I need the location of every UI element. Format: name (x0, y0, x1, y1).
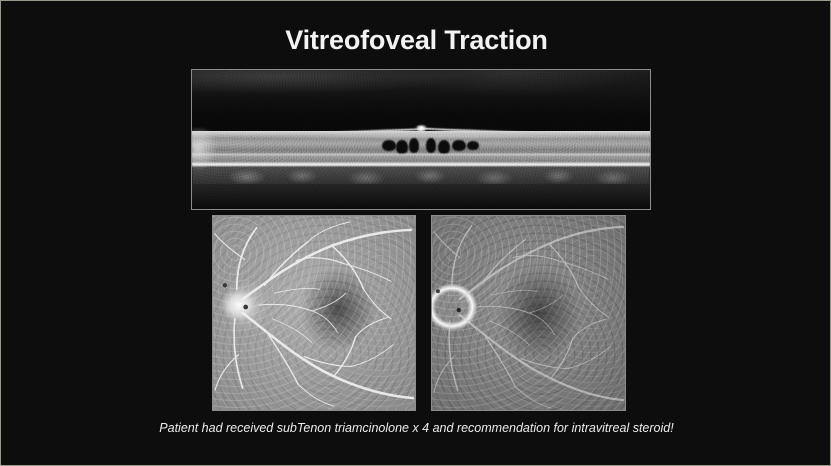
oct-neurosensory-retina (192, 131, 650, 164)
fluorescein-angiogram-early-figure (212, 215, 416, 411)
oct-bscan-figure (191, 69, 651, 210)
fa-early-retinal-vasculature (213, 216, 415, 410)
oct-nasal-bright-wedge (192, 128, 224, 178)
slide-caption: Patient had received subTenon triamcinol… (116, 420, 717, 437)
oct-cystoid-space (409, 138, 419, 153)
fluorescein-angiogram-early-image (213, 216, 415, 410)
fluorescein-angiogram-late-image (432, 216, 625, 410)
oct-bscan-image (192, 70, 650, 209)
fa-late-retinal-vasculature (432, 216, 625, 410)
fluorescein-angiogram-late-figure (431, 215, 626, 411)
oct-cystoid-space (426, 138, 437, 153)
page-title: Vitreofoveal Traction (1, 24, 831, 56)
oct-cystoid-space (467, 141, 479, 150)
presentation-slide: Vitreofoveal Traction (0, 0, 831, 466)
oct-ellipsoid-zone-band (192, 153, 650, 156)
oct-cystoid-space (452, 140, 466, 152)
oct-cystoid-space (382, 140, 396, 152)
oct-deep-shadow (192, 184, 650, 209)
